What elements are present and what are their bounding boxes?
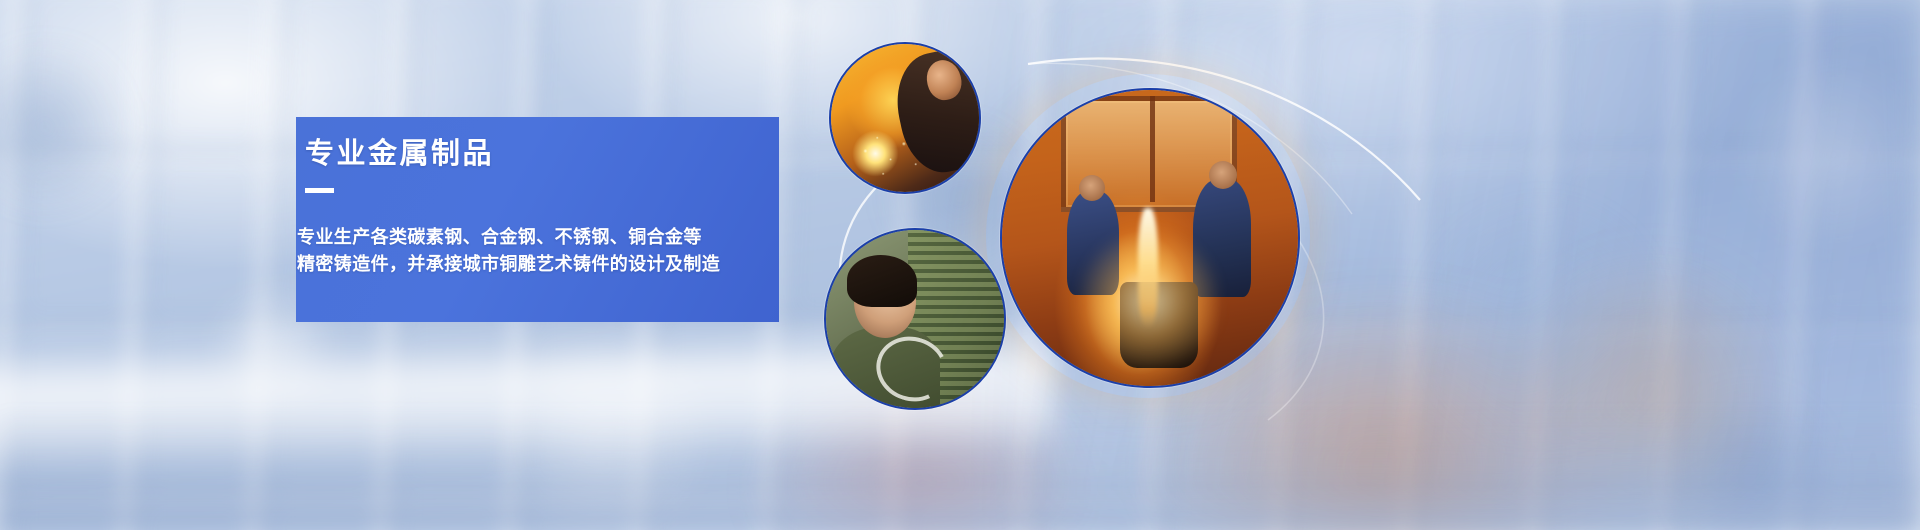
foundry-photo [1000, 88, 1300, 388]
page-title: 专业金属制品 [305, 137, 494, 172]
title-divider-rule [305, 188, 334, 193]
panel-description: 专业生产各类碳素钢、合金钢、不锈钢、铜合金等 精密铸造件，并承接城市铜雕艺术铸件… [297, 224, 817, 278]
welding-photo [829, 42, 981, 194]
hero-banner: 专业金属制品 专业生产各类碳素钢、合金钢、不锈钢、铜合金等 精密铸造件，并承接城… [0, 0, 1920, 530]
assembly-worker-hair [847, 255, 917, 307]
welding-sparks [858, 127, 932, 187]
assembly-photo [824, 228, 1006, 410]
background-bottom-shade [0, 410, 1920, 530]
foundry-window-mullion [1150, 96, 1155, 203]
foundry-molten-pour [1138, 208, 1158, 328]
